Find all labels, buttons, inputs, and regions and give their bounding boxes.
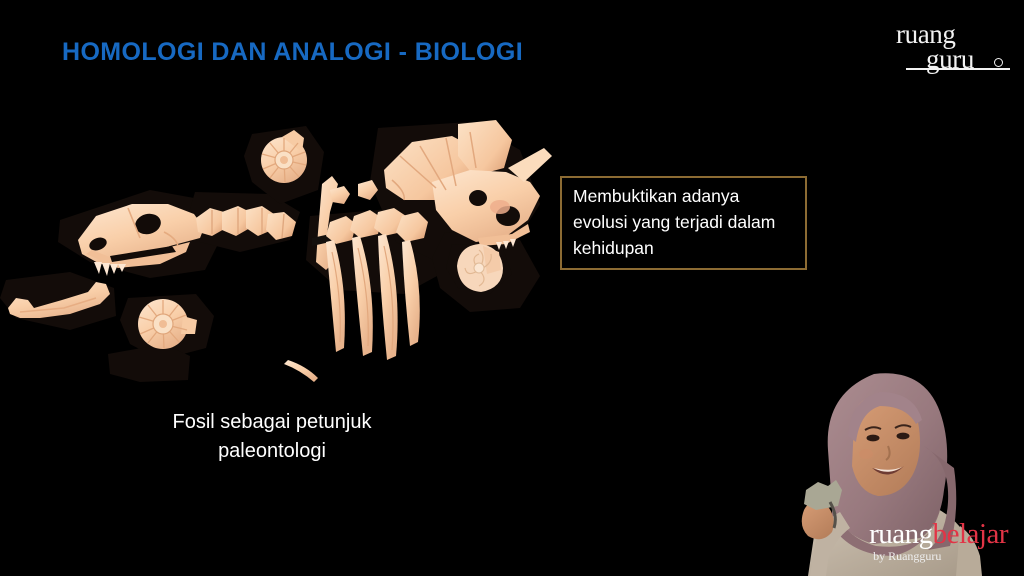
registered-mark-circle-icon — [994, 58, 1003, 67]
page-title: HOMOLOGI DAN ANALOGI - BIOLOGI — [62, 38, 523, 67]
slide-canvas: HOMOLOGI DAN ANALOGI - BIOLOGI ruang gur… — [0, 0, 1024, 576]
caption-line-2: paleontologi — [112, 437, 432, 466]
caption-line-1: Fosil sebagai petunjuk — [112, 408, 432, 437]
fossil-illustration — [0, 112, 560, 382]
logo-line-guru: guru — [894, 47, 1006, 72]
held-object — [804, 480, 842, 510]
presenter-video-overlay — [724, 350, 1024, 576]
callout-box: Membuktikan adanya evolusi yang terjadi … — [560, 176, 807, 270]
ruangguru-logo: ruang guru — [894, 22, 1006, 80]
callout-text: Membuktikan adanya evolusi yang terjadi … — [562, 184, 805, 262]
fossil-caption: Fosil sebagai petunjuk paleontologi — [112, 408, 432, 466]
claw-cluster — [284, 208, 428, 382]
